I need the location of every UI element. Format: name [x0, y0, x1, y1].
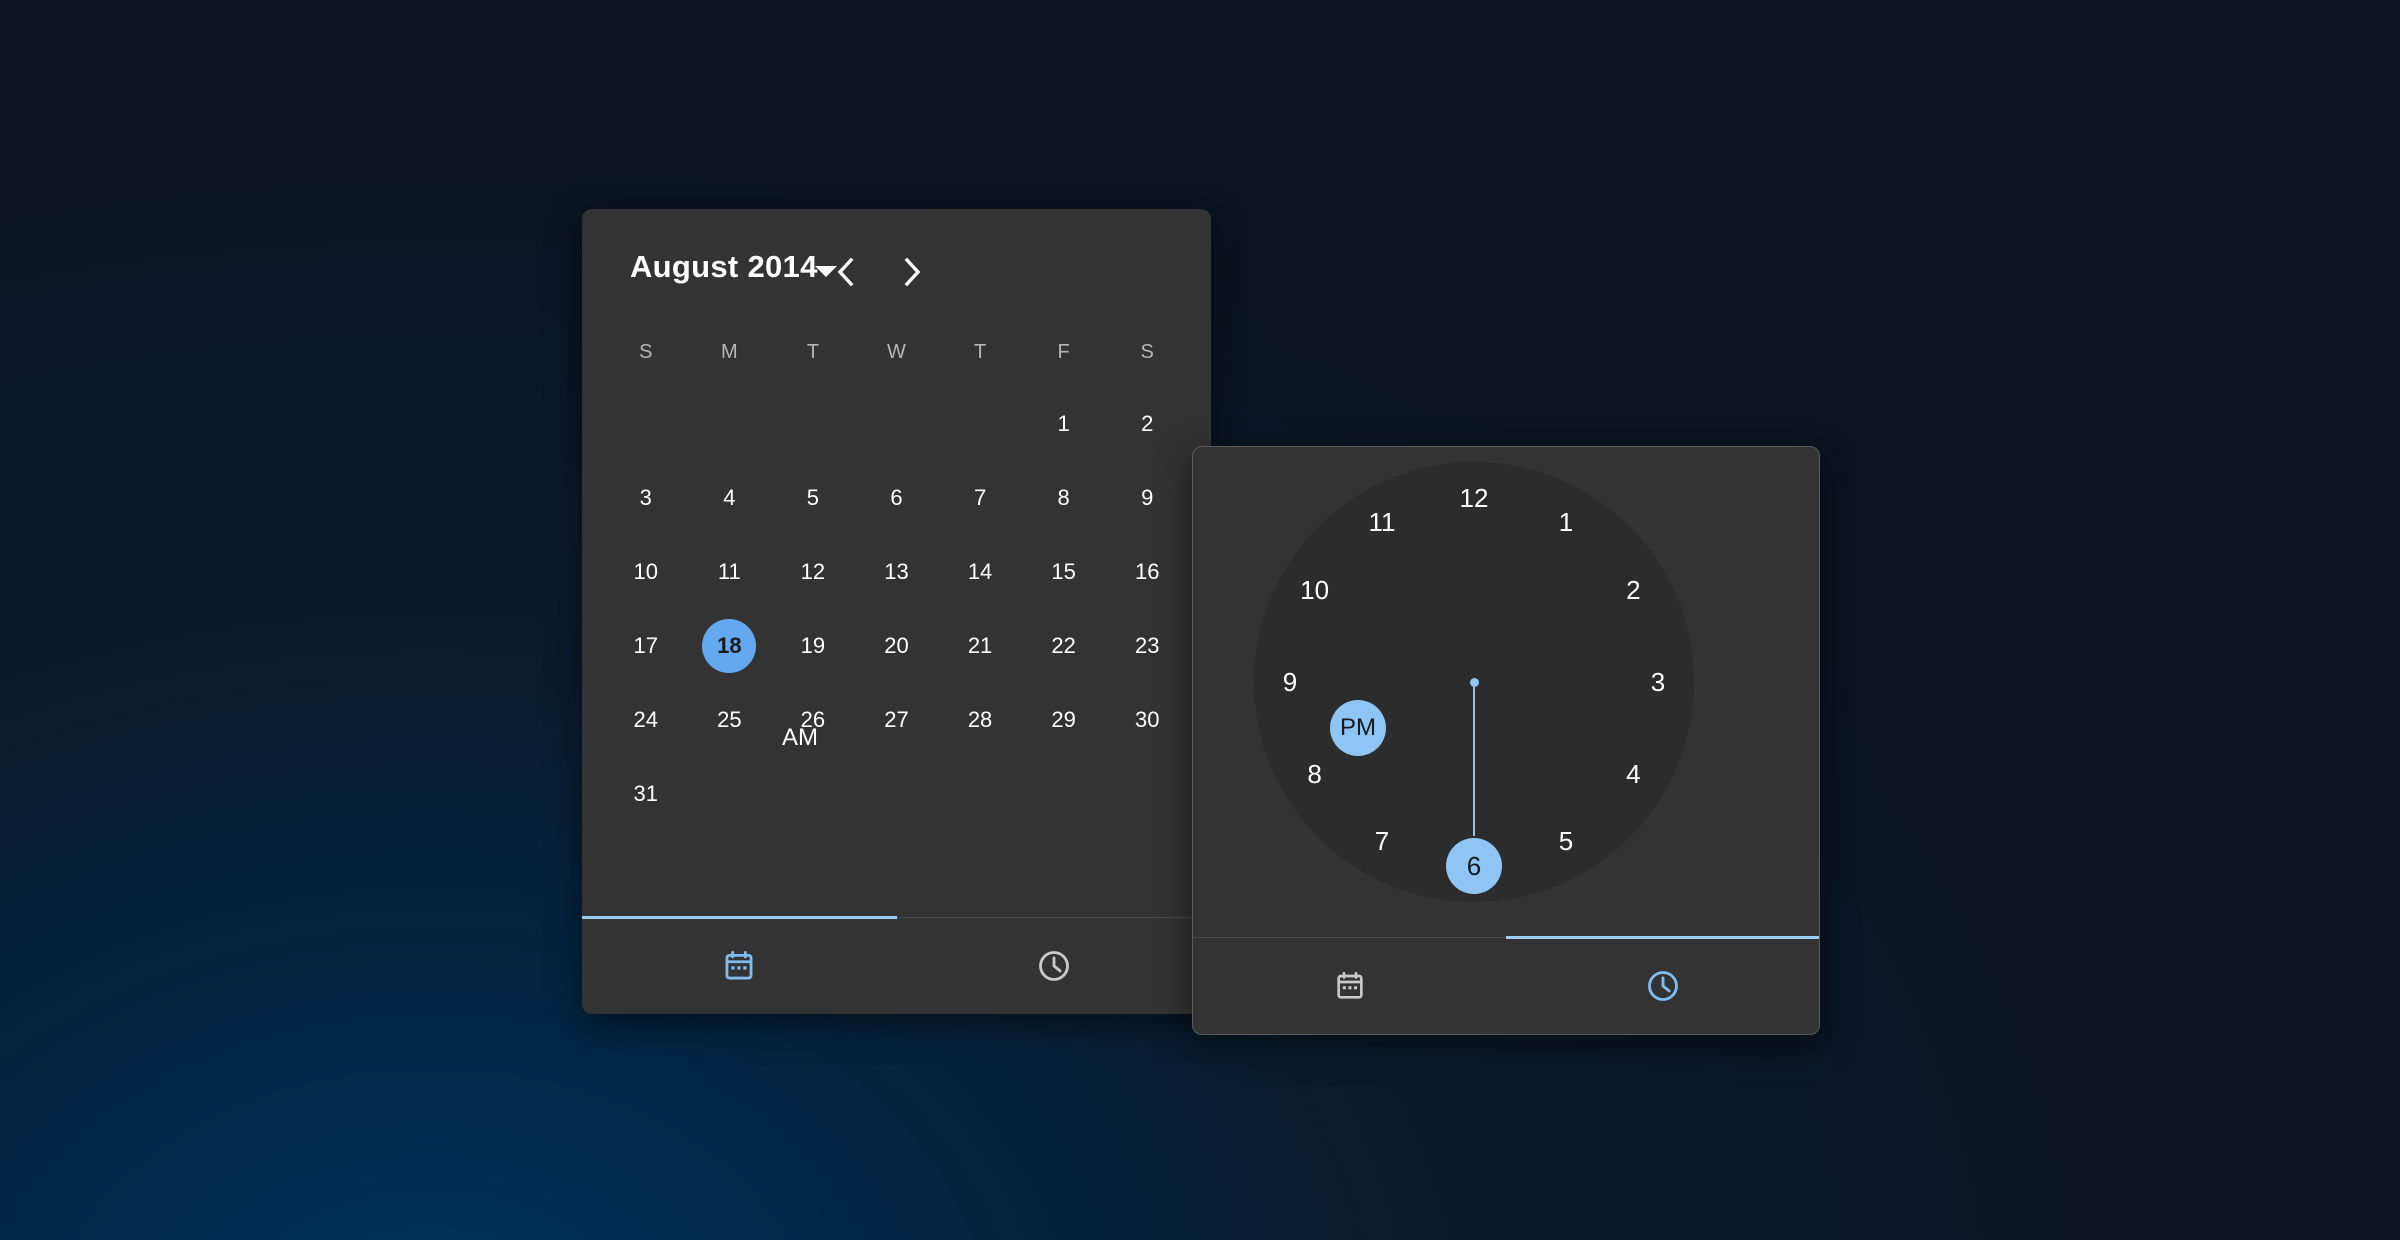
calendar-day[interactable]: 13 [855, 535, 939, 609]
calendar-day-empty [855, 387, 939, 461]
calendar-day-empty [771, 387, 855, 461]
calendar-day-empty [688, 387, 772, 461]
calendar-day-number: 5 [786, 471, 840, 525]
calendar-day-number: 17 [619, 619, 673, 673]
hour-marker[interactable]: 2 [1605, 562, 1661, 618]
hour-marker[interactable]: 11 [1354, 495, 1410, 551]
calendar-day-number: 21 [953, 619, 1007, 673]
hour-marker[interactable]: 9 [1262, 654, 1318, 710]
calendar-day[interactable]: 10 [604, 535, 688, 609]
calendar-day-number: 12 [786, 545, 840, 599]
calendar-day-number: 28 [953, 693, 1007, 747]
calendar-header: August 2014 [582, 209, 1211, 329]
calendar-day-number: 9 [1120, 471, 1174, 525]
calendar-day[interactable]: 5 [771, 461, 855, 535]
time-picker-dialog: 121234567891011 [1192, 446, 1820, 1035]
calendar-day-number: 19 [786, 619, 840, 673]
time-dialog-tabbar [1193, 937, 1819, 1034]
hour-marker[interactable]: 4 [1605, 746, 1661, 802]
calendar-day[interactable]: 31 [604, 757, 688, 831]
calendar-day-number: 14 [953, 545, 1007, 599]
calendar-day[interactable]: 9 [1105, 461, 1189, 535]
calendar-day[interactable]: 4 [688, 461, 772, 535]
am-button[interactable]: AM [770, 718, 830, 758]
tab-time[interactable] [1506, 938, 1819, 1034]
calendar-day-number: 30 [1120, 693, 1174, 747]
calendar-day[interactable]: 21 [938, 609, 1022, 683]
tab-date[interactable] [582, 918, 897, 1014]
clock-center-dot [1470, 678, 1479, 687]
calendar-day-number: 2 [1120, 397, 1174, 451]
calendar-day-number: 15 [1037, 545, 1091, 599]
calendar-day[interactable]: 22 [1022, 609, 1106, 683]
calendar-day[interactable]: 2 [1105, 387, 1189, 461]
weekday-label: T [938, 329, 1022, 375]
calendar-day[interactable]: 25 [688, 683, 772, 757]
calendar-day-number: 7 [953, 471, 1007, 525]
calendar-day-number: 20 [869, 619, 923, 673]
calendar-day-number: 13 [869, 545, 923, 599]
calendar-day-number: 11 [702, 545, 756, 599]
calendar-day-number: 27 [869, 693, 923, 747]
calendar-month-year-label[interactable]: August 2014 [630, 249, 818, 285]
calendar-day[interactable]: 7 [938, 461, 1022, 535]
hour-marker[interactable]: 3 [1630, 654, 1686, 710]
date-dialog-tabbar [582, 917, 1211, 1014]
calendar-day-number: 31 [619, 767, 673, 821]
calendar-day-number: 3 [619, 471, 673, 525]
previous-month-button[interactable] [822, 249, 868, 295]
calendar-day[interactable]: 20 [855, 609, 939, 683]
calendar-day-number: 8 [1037, 471, 1091, 525]
weekday-label: M [688, 329, 772, 375]
weekday-label: T [771, 329, 855, 375]
weekday-label: S [604, 329, 688, 375]
tab-time[interactable] [897, 918, 1212, 1014]
calendar-day[interactable]: 24 [604, 683, 688, 757]
calendar-day[interactable]: 14 [938, 535, 1022, 609]
clock-icon [1645, 968, 1681, 1004]
calendar-day-number: 25 [702, 693, 756, 747]
calendar-day-number: 6 [869, 471, 923, 525]
calendar-day-number: 29 [1037, 693, 1091, 747]
calendar-day[interactable]: 16 [1105, 535, 1189, 609]
calendar-day[interactable]: 6 [855, 461, 939, 535]
calendar-day-grid: 1234567891011121314151617181920212223242… [582, 375, 1211, 831]
calendar-day[interactable]: 3 [604, 461, 688, 535]
calendar-day[interactable]: 1 [1022, 387, 1106, 461]
weekday-label: W [855, 329, 939, 375]
calendar-day-number: 16 [1120, 545, 1174, 599]
calendar-day-empty [604, 387, 688, 461]
hour-marker[interactable]: 5 [1538, 813, 1594, 869]
calendar-day[interactable]: 27 [855, 683, 939, 757]
calendar-day-selected[interactable]: 18 [688, 609, 772, 683]
weekday-header-row: SMTWTFS [582, 329, 1211, 375]
clock-area: 121234567891011 [1193, 447, 1819, 939]
hour-marker-selected[interactable]: 6 [1446, 838, 1502, 894]
calendar-day-empty [938, 387, 1022, 461]
calendar-day-number: 1 [1037, 397, 1091, 451]
calendar-day-number: 23 [1120, 619, 1174, 673]
calendar-day[interactable]: 28 [938, 683, 1022, 757]
hour-marker[interactable]: 10 [1287, 562, 1343, 618]
calendar-day[interactable]: 15 [1022, 535, 1106, 609]
calendar-day[interactable]: 11 [688, 535, 772, 609]
calendar-day-number: 18 [702, 619, 756, 673]
calendar-day-number: 10 [619, 545, 673, 599]
calendar-day[interactable]: 29 [1022, 683, 1106, 757]
calendar-day[interactable]: 8 [1022, 461, 1106, 535]
next-month-button[interactable] [889, 249, 935, 295]
weekday-label: S [1105, 329, 1189, 375]
calendar-day[interactable]: 17 [604, 609, 688, 683]
hour-marker[interactable]: 7 [1354, 813, 1410, 869]
hour-marker[interactable]: 12 [1446, 470, 1502, 526]
calendar-day[interactable]: 12 [771, 535, 855, 609]
hour-marker[interactable]: 1 [1538, 495, 1594, 551]
tab-indicator [582, 916, 897, 919]
calendar-day-number: 4 [702, 471, 756, 525]
calendar-icon [722, 949, 756, 983]
pm-button[interactable]: PM [1330, 700, 1386, 756]
calendar-day-number: 24 [619, 693, 673, 747]
calendar-icon [1334, 970, 1366, 1002]
calendar-day[interactable]: 19 [771, 609, 855, 683]
hour-marker[interactable]: 8 [1287, 746, 1343, 802]
tab-indicator [1506, 936, 1819, 939]
date-picker-dialog: August 2014 SMTWTFS 12345678910111213141… [582, 209, 1211, 1014]
clock-hand [1473, 682, 1475, 836]
clock-icon [1036, 948, 1072, 984]
calendar-day[interactable]: 30 [1105, 683, 1189, 757]
tab-date[interactable] [1193, 938, 1506, 1034]
weekday-label: F [1022, 329, 1106, 375]
calendar-day-number: 22 [1037, 619, 1091, 673]
calendar-day[interactable]: 23 [1105, 609, 1189, 683]
